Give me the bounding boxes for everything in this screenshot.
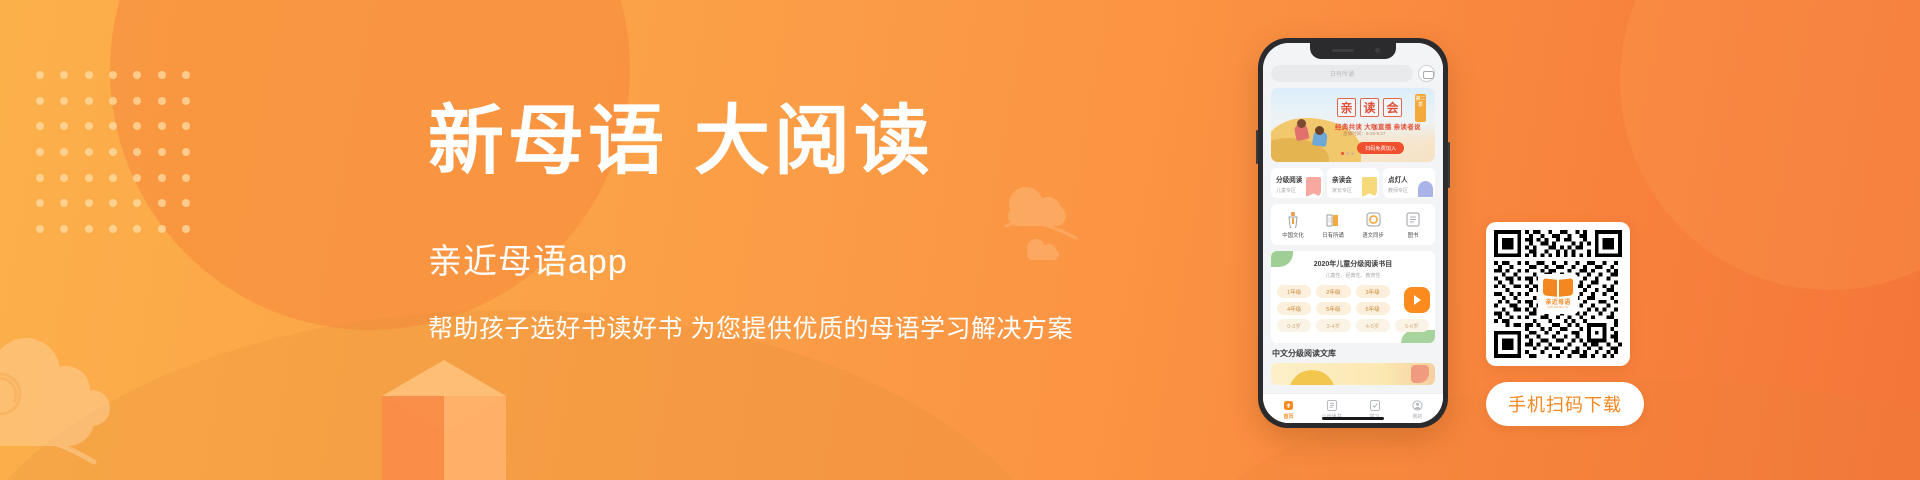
qr-download-block: 亲近母语 QIN JIN MU YU 手机扫码下载 — [1486, 222, 1644, 426]
background-circle-right-decor — [1620, 0, 1920, 290]
library-section-title: 中文分级阅读文库 — [1272, 348, 1435, 359]
promo-banner-card[interactable]: 亲 读 会 第二季 经典共读 大咖直播 亲读者说 直播时间：9.16-9.27 … — [1271, 88, 1435, 162]
promo-carousel-dots[interactable] — [1341, 152, 1354, 155]
promo-join-button[interactable]: 扫码免费加入 — [1357, 142, 1404, 154]
dot-grid-decor — [28, 62, 198, 242]
cloud-motif-icon — [0, 324, 164, 474]
app-screen-content: 日有所诵 亲 读 会 第二季 经典共读 大咖直播 亲读者说 直播时间：9 — [1263, 43, 1443, 423]
circle-play-icon — [1353, 211, 1393, 228]
promo-title-char: 读 — [1360, 98, 1379, 117]
category-card-parent-club[interactable]: 亲读会 家长专区 — [1327, 168, 1379, 198]
quick-link-label: 日有所诵 — [1313, 231, 1353, 239]
age-pill[interactable]: 5-6岁 — [1395, 319, 1429, 332]
person-badge-icon — [1418, 181, 1433, 197]
message-icon[interactable] — [1418, 65, 1435, 82]
tab-label: 首页 — [1267, 413, 1310, 420]
quick-link-books[interactable]: 图书 — [1393, 211, 1433, 239]
qr-center-logo: 亲近母语 QIN JIN MU YU — [1538, 274, 1578, 314]
qr-logo-name: 亲近母语 — [1545, 297, 1570, 306]
play-button-icon[interactable] — [1404, 287, 1430, 313]
search-input[interactable]: 日有所诵 — [1271, 65, 1413, 82]
banner-tagline: 帮助孩子选好书读好书 为您提供优质的母语学习解决方案 — [428, 309, 1228, 345]
promo-date: 直播时间：9.16-9.27 — [1343, 131, 1385, 137]
quick-links-row: 中国文化 日有所诵 — [1271, 204, 1435, 245]
vase-icon — [1273, 211, 1313, 228]
grade-pill[interactable]: 4年级 — [1277, 302, 1311, 315]
quick-link-chinese-culture[interactable]: 中国文化 — [1273, 211, 1313, 239]
age-pill[interactable]: 4-5岁 — [1356, 319, 1390, 332]
person-icon — [1396, 399, 1439, 411]
grade-pill[interactable]: 1年级 — [1277, 285, 1311, 298]
headline-part-left: 新母语 — [428, 100, 668, 184]
quick-link-label: 图书 — [1393, 231, 1433, 239]
library-card[interactable] — [1271, 363, 1435, 385]
tab-home[interactable]: 首页 — [1267, 399, 1310, 420]
bookmark-icon — [1306, 177, 1321, 197]
promo-title: 亲 读 会 — [1337, 98, 1402, 117]
quick-link-daily-recitation[interactable]: 日有所诵 — [1313, 211, 1353, 239]
phone-mockup: 日有所诵 亲 读 会 第二季 经典共读 大咖直播 亲读者说 直播时间：9 — [1258, 38, 1448, 428]
app-search-row: 日有所诵 — [1271, 65, 1435, 82]
home-icon — [1267, 399, 1310, 411]
open-book-logo-icon — [1543, 279, 1573, 296]
grade-selector: 1年级 2年级 3年级 4年级 5年级 6年级 0-3岁 — [1277, 285, 1429, 332]
book-list-title: 2020年儿童分级阅读书目 — [1277, 259, 1429, 269]
tab-profile[interactable]: 我的 — [1396, 399, 1439, 420]
book-list-card: 2020年儿童分级阅读书目 儿童性、经典性、教育性 1年级 2年级 3年级 4年… — [1271, 251, 1435, 343]
qr-code[interactable]: 亲近母语 QIN JIN MU YU — [1486, 222, 1630, 366]
grade-pill[interactable]: 3年级 — [1356, 285, 1390, 298]
phone-notch — [1310, 43, 1396, 59]
quick-link-label: 中国文化 — [1273, 231, 1313, 239]
headline-part-right: 大阅读 — [694, 100, 934, 184]
book-list-subtitle: 儿童性、经典性、教育性 — [1277, 272, 1429, 279]
promo-subtitle: 经典共读 大咖直播 亲读者说 — [1335, 121, 1421, 131]
grade-pill[interactable]: 6年级 — [1356, 302, 1390, 315]
quick-link-chinese-sync[interactable]: 语文同步 — [1353, 211, 1393, 239]
banner-copy: 新母语大阅读 亲近母语app 帮助孩子选好书读好书 为您提供优质的母语学习解决方… — [428, 104, 1228, 345]
cube-decor — [382, 360, 506, 480]
category-cards: 分级阅读 儿童专区 亲读会 家长专区 点灯人 教师专区 — [1271, 168, 1435, 198]
age-pill[interactable]: 3-4岁 — [1316, 319, 1350, 332]
book-open-icon — [1313, 211, 1353, 228]
app-promo-banner: 新母语大阅读 亲近母语app 帮助孩子选好书读好书 为您提供优质的母语学习解决方… — [0, 0, 1920, 480]
promo-title-char: 会 — [1383, 98, 1402, 117]
promo-season-flag: 第二季 — [1415, 94, 1426, 122]
book-icon — [1393, 211, 1433, 228]
app-name-subtitle: 亲近母语app — [428, 234, 1228, 283]
page-title: 新母语大阅读 — [428, 104, 1228, 180]
category-card-teacher[interactable]: 点灯人 教师专区 — [1383, 168, 1435, 198]
list-icon — [1310, 399, 1353, 411]
phone-screen: 日有所诵 亲 读 会 第二季 经典共读 大咖直播 亲读者说 直播时间：9 — [1263, 43, 1443, 423]
qr-logo-pinyin: QIN JIN MU YU — [1548, 306, 1569, 309]
tab-label: 我的 — [1396, 413, 1439, 420]
grade-pill[interactable]: 2年级 — [1316, 285, 1350, 298]
grade-pill[interactable]: 5年级 — [1316, 302, 1350, 315]
checklist-icon — [1353, 399, 1396, 411]
bookmark-icon — [1362, 177, 1377, 197]
promo-title-char: 亲 — [1337, 98, 1356, 117]
category-card-graded-reading[interactable]: 分级阅读 儿童专区 — [1271, 168, 1323, 198]
age-pill[interactable]: 0-3岁 — [1277, 319, 1311, 332]
download-button[interactable]: 手机扫码下载 — [1486, 382, 1644, 426]
home-indicator — [1322, 417, 1384, 420]
quick-link-label: 语文同步 — [1353, 231, 1393, 239]
